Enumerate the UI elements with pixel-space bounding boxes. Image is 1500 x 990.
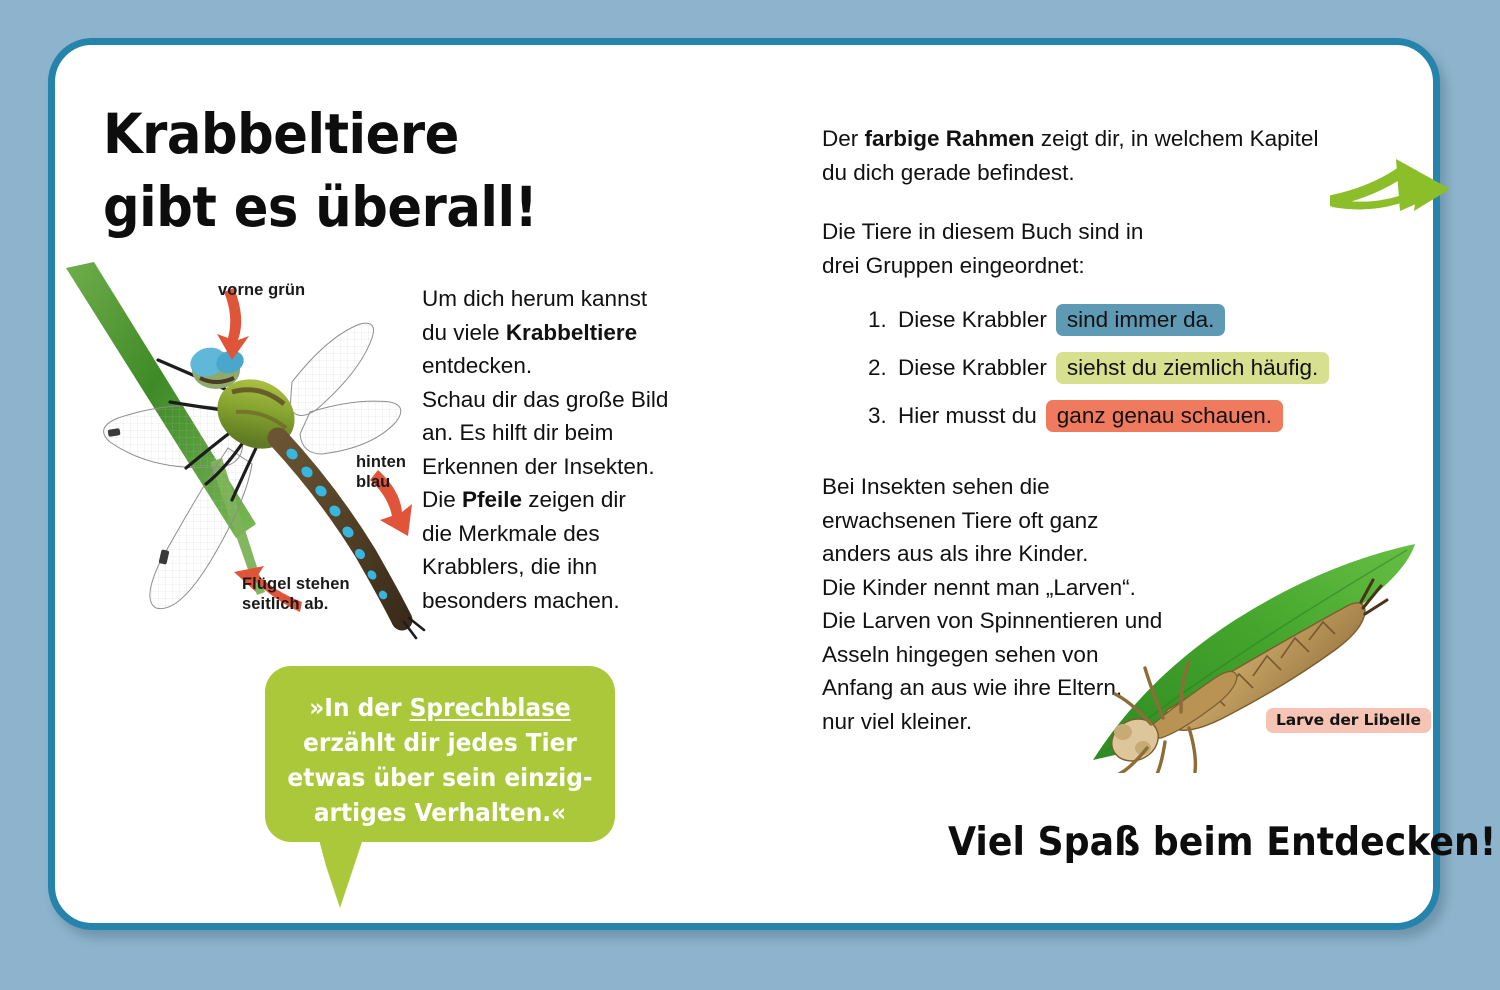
annotation-fluegel-line-2: seitlich ab. [242, 595, 328, 613]
annotation-vorne-gruen: vorne grün [218, 280, 305, 300]
group-lead-2: Diese Krabbler [898, 355, 1047, 381]
larva-illustration [1085, 528, 1425, 773]
dragonfly-illustration: vorne grün hinten blau Flügel stehen sei… [60, 262, 435, 642]
group-highlight-3: ganz genau schauen. [1046, 400, 1283, 432]
bubble-line-3: etwas über sein einzig- [274, 760, 607, 795]
bubble-underline-sprechblase: Sprechblase [410, 693, 571, 722]
bold-pfeile: Pfeile [462, 487, 522, 512]
annotation-fluegel-line-1: Flügel stehen [242, 575, 350, 593]
annotation-hinten-line-1: hinten [356, 453, 406, 471]
right-intro-line-1: Der farbige Rahmen zeigt dir, in welchem… [822, 122, 1382, 156]
bold-farbige-rahmen: farbige Rahmen [865, 126, 1035, 151]
left-line-5: an. Es hilft dir beim [422, 416, 692, 450]
list-item: 3. Hier musst du ganz genau schauen. [868, 401, 1388, 431]
page-title-line-1: Krabbeltiere [103, 98, 698, 171]
group-highlight-1: sind immer da. [1056, 304, 1226, 336]
bold-krabbeltiere: Krabbeltiere [506, 320, 637, 345]
green-arrow-icon [1330, 145, 1480, 225]
left-line-4: Schau dir das große Bild [422, 383, 692, 417]
bubble-line-4: artiges Verhalten.« [274, 795, 607, 830]
group-number-1: 1. [868, 307, 898, 333]
frame-explanation-paragraph: Der farbige Rahmen zeigt dir, in welchem… [822, 122, 1382, 189]
annotation-hinten-line-2: blau [356, 473, 390, 491]
groups-heading-line-2: drei Gruppen eingeordnet: [822, 249, 1272, 283]
left-line-8: die Merkmale des [422, 517, 692, 551]
left-line-9: Krabblers, die ihn [422, 550, 692, 584]
larva-caption-badge: Larve der Libelle [1266, 708, 1431, 733]
speech-bubble-text: »In der Sprechblase erzählt dir jedes Ti… [274, 690, 607, 830]
groups-heading: Die Tiere in diesem Buch sind in drei Gr… [822, 215, 1272, 282]
annotation-hinten-blau: hinten blau [356, 452, 406, 492]
group-highlight-2: siehst du ziemlich häufig. [1056, 352, 1329, 384]
page-title-line-2: gibt es überall! [103, 171, 698, 244]
right-intro-line-2: du dich gerade befindest. [822, 156, 1382, 190]
left-line-3: entdecken. [422, 349, 692, 383]
annotation-fluegel: Flügel stehen seitlich ab. [242, 574, 350, 614]
page-title: Krabbeltiere gibt es überall! [103, 98, 698, 243]
bubble-line-1: »In der Sprechblase [274, 690, 607, 725]
bubble-line-2: erzählt dir jedes Tier [274, 725, 607, 760]
list-item: 2. Diese Krabbler siehst du ziemlich häu… [868, 353, 1388, 383]
groups-heading-line-1: Die Tiere in diesem Buch sind in [822, 215, 1272, 249]
larven-line-1: Bei Insekten sehen die [822, 470, 1242, 504]
larva-svg [1085, 528, 1425, 773]
speech-bubble-tail [318, 836, 364, 908]
group-lead-3: Hier musst du [898, 403, 1037, 429]
left-line-1: Um dich herum kannst [422, 282, 692, 316]
left-line-2: du viele Krabbeltiere [422, 316, 692, 350]
left-line-10: besonders machen. [422, 584, 692, 618]
closing-line: Viel Spaß beim Entdecken! [948, 820, 1496, 867]
larva-eye-left [1114, 724, 1132, 740]
book-page: Krabbeltiere gibt es überall! [0, 0, 1500, 990]
intro-paragraph-left: Um dich herum kannst du viele Krabbeltie… [422, 282, 692, 617]
left-line-6: Erkennen der Insekten. [422, 450, 692, 484]
left-line-7: Die Pfeile zeigen dir [422, 483, 692, 517]
group-lead-1: Diese Krabbler [898, 307, 1047, 333]
groups-list: 1. Diese Krabbler sind immer da. 2. Dies… [868, 305, 1388, 449]
list-item: 1. Diese Krabbler sind immer da. [868, 305, 1388, 335]
group-number-2: 2. [868, 355, 898, 381]
group-number-3: 3. [868, 403, 898, 429]
